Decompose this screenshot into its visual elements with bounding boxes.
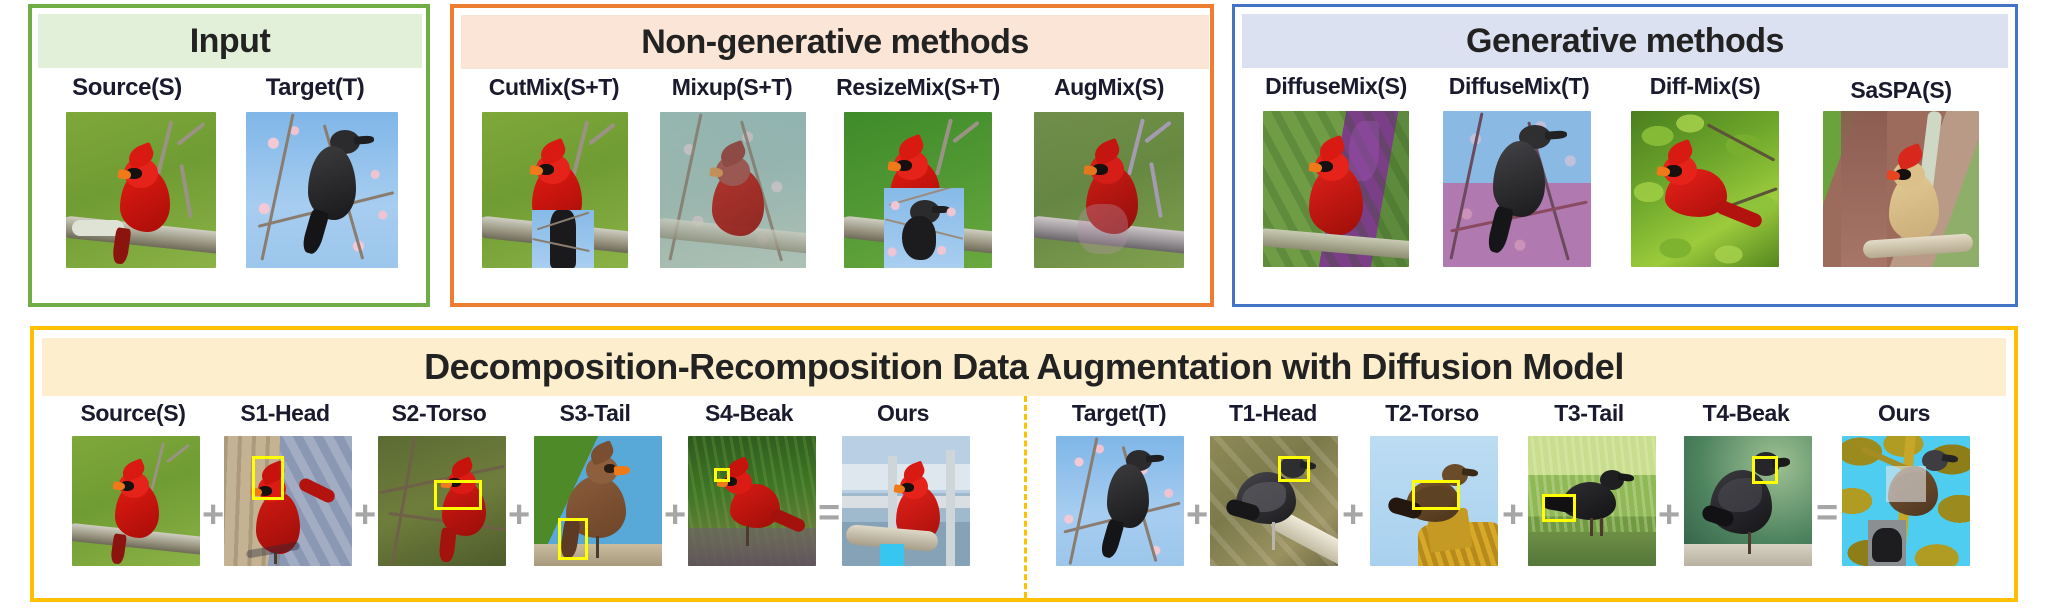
panel-non-generative-title-band: Non-generative methods bbox=[461, 15, 1209, 69]
caption-target-t: Target(T) bbox=[222, 74, 408, 102]
caption-s2-torso: S2-Torso bbox=[354, 400, 524, 427]
cell-t4-beak: T4-Beak = bbox=[1660, 400, 1832, 600]
cell-s3-tail: S3-Tail + bbox=[512, 400, 678, 600]
caption-bottom-target-t: Target(T) bbox=[1036, 400, 1202, 427]
image-t2-torso bbox=[1370, 436, 1498, 566]
bbox-beak bbox=[1752, 456, 1778, 484]
cell-t2-torso: T2-Torso + bbox=[1346, 400, 1518, 600]
caption-right-ours: Ours bbox=[1818, 400, 1990, 427]
group-divider bbox=[1024, 396, 1027, 598]
panel-input-title-band: Input bbox=[38, 14, 422, 68]
cell-s4-beak: S4-Beak = bbox=[664, 400, 834, 600]
caption-saspa-s: SaSPA(S) bbox=[1797, 77, 2005, 104]
cell-diffusemix-s: DiffuseMix(S) bbox=[1241, 73, 1431, 301]
image-s4-beak bbox=[688, 436, 816, 566]
caption-resizemix: ResizeMix(S+T) bbox=[818, 74, 1018, 101]
caption-t4-beak: T4-Beak bbox=[1660, 400, 1832, 427]
caption-t3-tail: T3-Tail bbox=[1506, 400, 1672, 427]
cell-saspa-s: SaSPA(S) bbox=[1797, 73, 2005, 301]
panel-generative-title-band: Generative methods bbox=[1242, 14, 2008, 68]
panel-bottom-title: Decomposition-Recomposition Data Augment… bbox=[424, 346, 1624, 388]
image-bottom-target-t bbox=[1056, 436, 1184, 566]
image-diffusemix-s bbox=[1263, 111, 1409, 267]
image-saspa-s bbox=[1823, 111, 1979, 267]
panel-input: Input Source(S) Ta bbox=[28, 4, 430, 307]
panel-bottom-title-band: Decomposition-Recomposition Data Augment… bbox=[42, 338, 2006, 396]
cell-left-ours: Ours bbox=[820, 400, 986, 600]
image-t4-beak bbox=[1684, 436, 1812, 566]
caption-diffusemix-t: DiffuseMix(T) bbox=[1421, 73, 1617, 100]
bbox-head bbox=[1278, 456, 1310, 482]
cell-s2-torso: S2-Torso + bbox=[354, 400, 524, 600]
cell-t3-tail: T3-Tail + bbox=[1506, 400, 1672, 600]
image-s1-head bbox=[224, 436, 352, 566]
caption-s3-tail: S3-Tail bbox=[512, 400, 678, 427]
bbox-beak bbox=[714, 468, 730, 482]
cell-augmix: AugMix(S) bbox=[1014, 74, 1204, 302]
caption-diff-mix-s: Diff-Mix(S) bbox=[1607, 73, 1803, 100]
image-s2-torso bbox=[378, 436, 506, 566]
image-cutmix bbox=[482, 112, 628, 268]
panel-non-generative: Non-generative methods CutMix(S+T) bbox=[450, 4, 1214, 307]
image-source-s bbox=[66, 112, 216, 268]
caption-diffusemix-s: DiffuseMix(S) bbox=[1241, 73, 1431, 100]
caption-t1-head: T1-Head bbox=[1188, 400, 1358, 427]
resizemix-patch bbox=[884, 188, 964, 268]
panel-input-title: Input bbox=[190, 22, 271, 61]
image-target-t bbox=[246, 112, 398, 268]
bbox-torso bbox=[434, 480, 482, 510]
caption-left-ours: Ours bbox=[820, 400, 986, 427]
panel-decomposition-recomposition: Decomposition-Recomposition Data Augment… bbox=[30, 326, 2018, 602]
caption-t2-torso: T2-Torso bbox=[1346, 400, 1518, 427]
cell-resizemix: ResizeMix(S+T) bbox=[818, 74, 1018, 302]
image-mixup bbox=[660, 112, 806, 268]
caption-s4-beak: S4-Beak bbox=[664, 400, 834, 427]
cell-diffusemix-t: DiffuseMix(T) bbox=[1421, 73, 1617, 301]
cell-diff-mix-s: Diff-Mix(S) bbox=[1607, 73, 1803, 301]
image-right-ours bbox=[1842, 436, 1970, 566]
bbox-tail bbox=[558, 518, 588, 560]
bbox-tail bbox=[1542, 494, 1576, 522]
image-diff-mix-s bbox=[1631, 111, 1779, 267]
image-left-ours bbox=[842, 436, 970, 566]
image-resizemix bbox=[844, 112, 992, 268]
image-s3-tail bbox=[534, 436, 662, 566]
cell-mixup: Mixup(S+T) bbox=[638, 74, 826, 302]
image-t3-tail bbox=[1528, 436, 1656, 566]
cell-bottom-source-s: Source(S) + bbox=[50, 400, 216, 600]
panel-generative: Generative methods DiffuseMix(S) Diffuse… bbox=[1232, 4, 2018, 307]
cell-right-ours: Ours bbox=[1818, 400, 1990, 600]
panel-non-generative-title: Non-generative methods bbox=[641, 23, 1029, 62]
bbox-torso bbox=[1412, 480, 1460, 510]
panel-generative-title: Generative methods bbox=[1466, 22, 1784, 61]
image-t1-head bbox=[1210, 436, 1338, 566]
cell-s1-head: S1-Head + bbox=[202, 400, 368, 600]
cutmix-patch bbox=[532, 210, 594, 268]
caption-source-s: Source(S) bbox=[38, 74, 216, 102]
caption-bottom-source-s: Source(S) bbox=[50, 400, 216, 427]
caption-cutmix: CutMix(S+T) bbox=[460, 74, 648, 101]
cell-source-s: Source(S) bbox=[38, 74, 216, 302]
bbox-head bbox=[252, 456, 284, 500]
image-augmix bbox=[1034, 112, 1184, 268]
image-diffusemix-t bbox=[1443, 111, 1591, 267]
cell-cutmix: CutMix(S+T) bbox=[460, 74, 648, 302]
cell-bottom-target-t: Target(T) + bbox=[1036, 400, 1202, 600]
image-bottom-source-s bbox=[72, 436, 200, 566]
caption-mixup: Mixup(S+T) bbox=[638, 74, 826, 101]
cell-target-t: Target(T) bbox=[222, 74, 408, 302]
caption-augmix: AugMix(S) bbox=[1014, 74, 1204, 101]
caption-s1-head: S1-Head bbox=[202, 400, 368, 427]
cell-t1-head: T1-Head + bbox=[1188, 400, 1358, 600]
